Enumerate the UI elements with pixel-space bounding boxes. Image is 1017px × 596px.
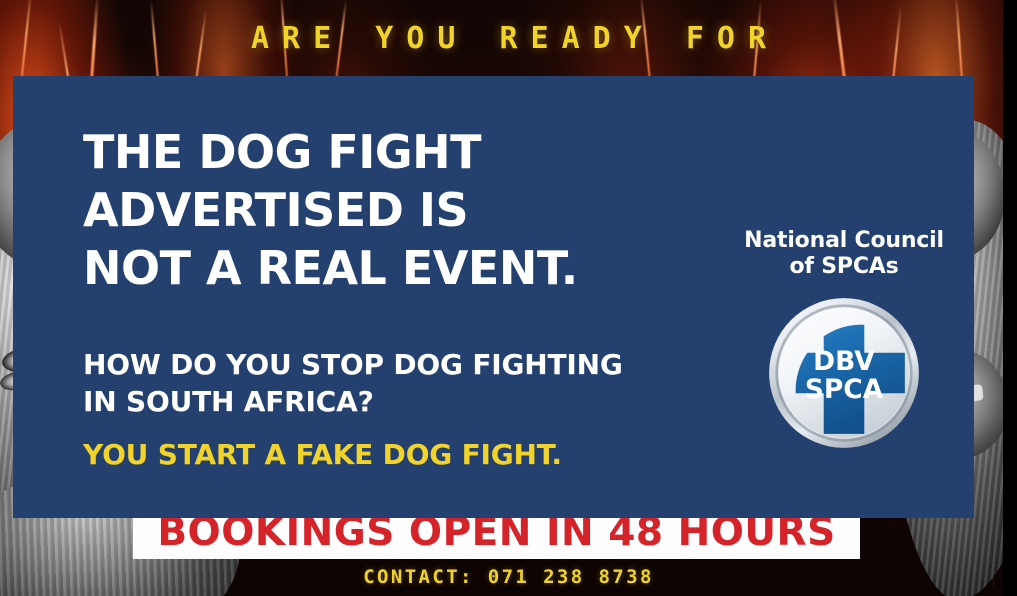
headline-line-1: THE DOG FIGHT: [83, 124, 578, 182]
subheadline: HOW DO YOU STOP DOG FIGHTING IN SOUTH AF…: [83, 346, 623, 474]
subheadline-line-1: HOW DO YOU STOP DOG FIGHTING: [83, 346, 623, 383]
contact-phone-text[interactable]: CONTACT: 071 238 8738: [363, 566, 654, 588]
message-panel: THE DOG FIGHT ADVERTISED IS NOT A REAL E…: [13, 76, 974, 518]
spca-cross-badge-icon: DBV SPCA: [766, 295, 922, 451]
nspca-logo: National Council of SPCAs: [713, 228, 975, 456]
headline: THE DOG FIGHT ADVERTISED IS NOT A REAL E…: [83, 124, 578, 298]
contact-line: CONTACT: 071 238 8738: [0, 566, 1017, 588]
bookings-text: BOOKINGS OPEN IN 48 HOURS: [157, 513, 835, 552]
subheadline-accent-line: YOU START A FAKE DOG FIGHT.: [83, 436, 623, 473]
badge-text-spca: SPCA: [805, 374, 884, 405]
poster-canvas: ARE YOU READY FOR BOOKINGS OPEN IN 48 HO…: [0, 0, 1017, 596]
subheadline-line-2: IN SOUTH AFRICA?: [83, 383, 623, 420]
headline-line-3: NOT A REAL EVENT.: [83, 240, 578, 298]
nspca-wordmark-line-2: of SPCAs: [713, 254, 975, 280]
nspca-wordmark: National Council of SPCAs: [713, 228, 975, 281]
top-banner: ARE YOU READY FOR: [0, 0, 1017, 76]
top-banner-text: ARE YOU READY FOR: [238, 21, 779, 56]
right-black-bar: [1003, 0, 1017, 596]
headline-line-2: ADVERTISED IS: [83, 182, 578, 240]
nspca-wordmark-line-1: National Council: [713, 228, 975, 254]
badge-text-dbv: DBV: [813, 346, 875, 377]
